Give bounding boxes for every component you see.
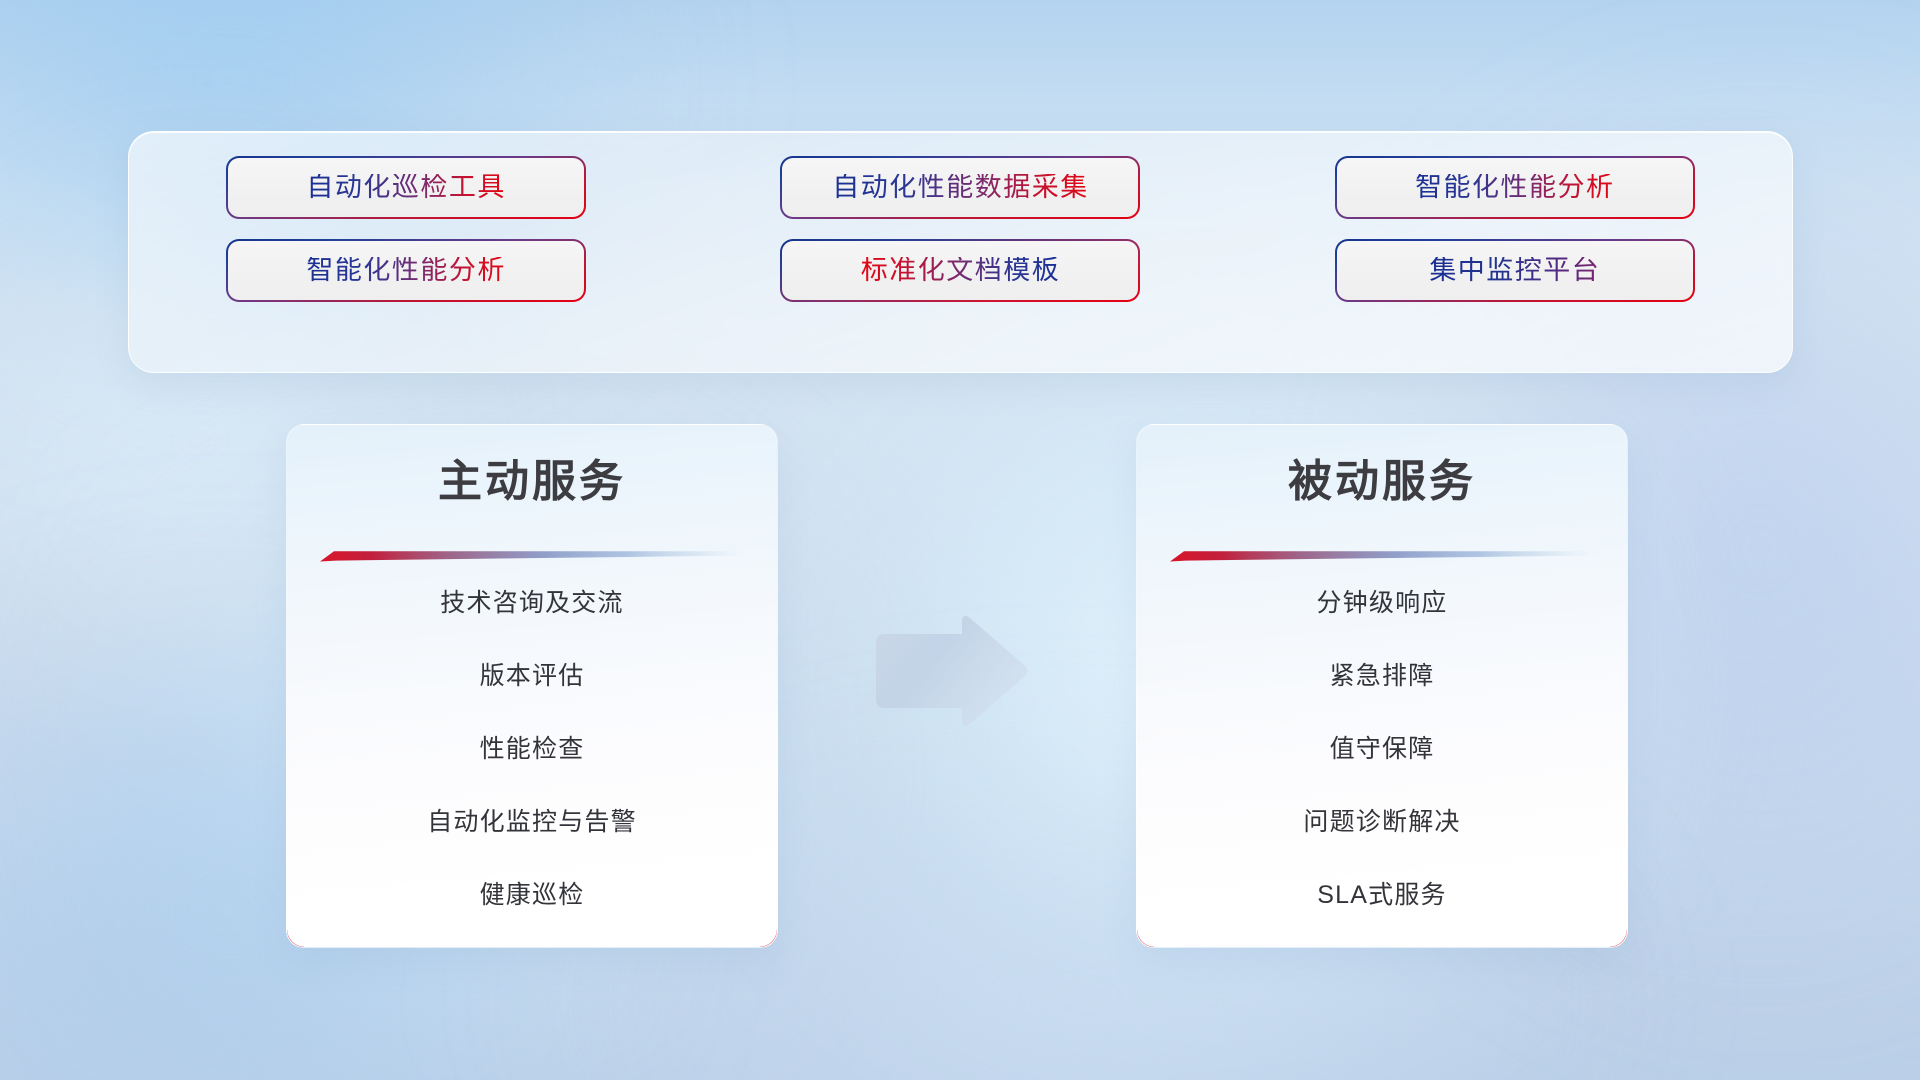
service-item: 紧急排障: [1137, 664, 1627, 689]
service-item: 问题诊断解决: [1137, 810, 1627, 835]
service-card-active-list: 技术咨询及交流 版本评估 性能检查 自动化监控与告警 健康巡检: [287, 591, 777, 908]
service-item: 性能检查: [287, 737, 777, 762]
right-arrow-icon: [872, 612, 1032, 730]
title-divider-passive: [1170, 550, 1600, 564]
capability-pill-standardized-document-template[interactable]: 标准化文档模板: [782, 241, 1138, 300]
capability-pill-centralized-monitoring-platform[interactable]: 集中监控平台: [1337, 241, 1693, 300]
service-card-passive-content: 被动服务: [1137, 425, 1627, 947]
capability-pill-label: 智能化性能分析: [1415, 174, 1615, 201]
service-card-passive-list: 分钟级响应 紧急排障 值守保障 问题诊断解决 SLA式服务: [1137, 591, 1627, 908]
capability-pill-label: 集中监控平台: [1429, 257, 1600, 284]
service-card-passive[interactable]: 被动服务: [1136, 424, 1628, 948]
service-item: 值守保障: [1137, 737, 1627, 762]
capability-pill-label: 自动化性能数据采集: [832, 174, 1089, 201]
capability-pill-panel: 自动化巡检工具 自动化性能数据采集 智能化性能分析 智能化性能分析 标准化文档模…: [128, 131, 1793, 373]
title-divider-active: [320, 550, 750, 564]
capability-pill-intelligent-performance-analysis-top[interactable]: 智能化性能分析: [1337, 158, 1693, 217]
service-item: 技术咨询及交流: [287, 591, 777, 616]
service-item: 版本评估: [287, 664, 777, 689]
service-card-active-title: 主动服务: [287, 460, 777, 504]
capability-pill-label: 标准化文档模板: [861, 257, 1061, 284]
service-card-passive-title: 被动服务: [1137, 460, 1627, 504]
service-card-active-content: 主动服务: [287, 425, 777, 947]
service-item: 健康巡检: [287, 883, 777, 908]
service-item: SLA式服务: [1137, 883, 1627, 908]
service-item: 自动化监控与告警: [287, 810, 777, 835]
capability-pill-automated-inspection-tool[interactable]: 自动化巡检工具: [228, 158, 584, 217]
slide-canvas: 自动化巡检工具 自动化性能数据采集 智能化性能分析 智能化性能分析 标准化文档模…: [0, 0, 1920, 1080]
capability-pill-automated-performance-data-collection[interactable]: 自动化性能数据采集: [782, 158, 1138, 217]
capability-pill-label: 智能化性能分析: [306, 257, 506, 284]
capability-pill-grid: 自动化巡检工具 自动化性能数据采集 智能化性能分析 智能化性能分析 标准化文档模…: [129, 158, 1792, 300]
capability-pill-label: 自动化巡检工具: [306, 174, 506, 201]
capability-pill-intelligent-performance-analysis-bottom[interactable]: 智能化性能分析: [228, 241, 584, 300]
service-item: 分钟级响应: [1137, 591, 1627, 616]
service-card-active[interactable]: 主动服务: [286, 424, 778, 948]
